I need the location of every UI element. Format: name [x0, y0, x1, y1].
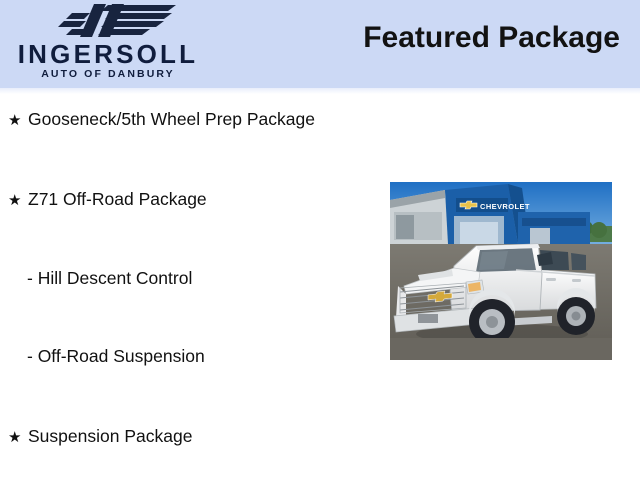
list-item: ★ Z71 Off-Road Package: [8, 188, 207, 212]
dealer-logo: INGERSOLL AUTO OF DANBURY: [8, 2, 208, 86]
list-item-label: Z71 Off-Road Package: [28, 188, 207, 210]
list-sub-item-label: - Off-Road Suspension: [27, 346, 205, 366]
ingersoll-winged-flag-emblem: [50, 2, 180, 40]
list-item: ★ Gooseneck/5th Wheel Prep Package: [8, 108, 315, 132]
star-bullet-icon: ★: [8, 427, 28, 449]
list-sub-item-label: - Hill Descent Control: [27, 268, 192, 288]
header-band: INGERSOLL AUTO OF DANBURY Featured Packa…: [0, 0, 640, 88]
list-item-label: Suspension Package: [28, 425, 192, 447]
logo-wordmark: INGERSOLL: [8, 40, 208, 68]
logo-subtext: AUTO OF DANBURY: [8, 68, 208, 80]
svg-text:CHEVROLET: CHEVROLET: [480, 202, 530, 211]
list-sub-item: - Off-Road Suspension: [27, 345, 205, 367]
list-item-label: Gooseneck/5th Wheel Prep Package: [28, 108, 315, 130]
page-title: Featured Package: [363, 21, 620, 55]
star-bullet-icon: ★: [8, 110, 28, 132]
vehicle-photo: CHEVROLET: [390, 182, 612, 360]
list-sub-item: - Hill Descent Control: [27, 267, 192, 289]
star-bullet-icon: ★: [8, 190, 28, 212]
feature-list: ★ Gooseneck/5th Wheel Prep Package ★ Z71…: [0, 94, 380, 480]
list-item: ★ Suspension Package: [8, 425, 192, 449]
